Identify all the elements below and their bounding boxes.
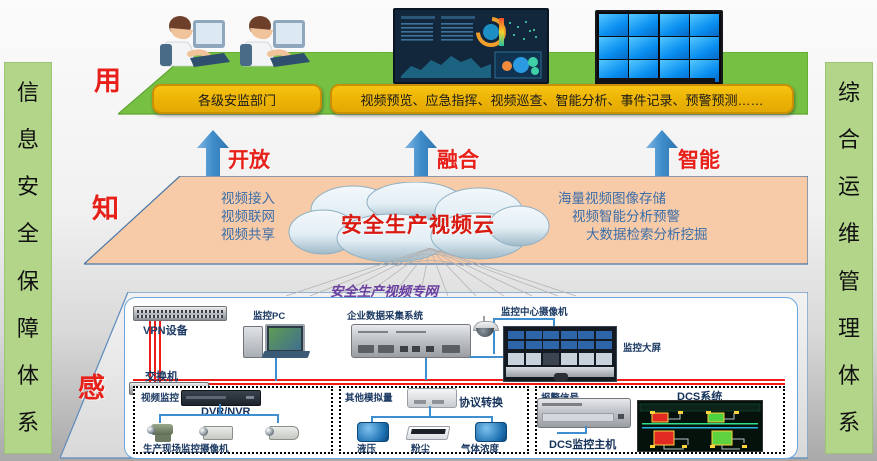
architecture-diagram: 用 知 感: [0, 0, 877, 461]
dust-sensor-icon: [406, 426, 451, 440]
app-box-safety-departments[interactable]: 各级安监部门: [152, 84, 322, 114]
dcs-screen-icon: [637, 400, 763, 452]
red-bus-line-2: [133, 383, 785, 385]
layer-tag-application: 用: [94, 68, 121, 95]
sidebar-left-char-0: 信: [17, 82, 39, 104]
cloud-left-line-3: 视频共享: [150, 226, 275, 244]
blue-wire-collector: [425, 358, 427, 380]
sidebar-left-char-1: 息: [17, 129, 39, 151]
sidebar-left-char-3: 全: [17, 223, 39, 245]
data-collector-label: 企业数据采集系统: [347, 308, 423, 322]
sensor-label-gas: 气体浓度: [461, 441, 499, 455]
sidebar-right-char-5: 理: [838, 318, 860, 340]
pressure-sensor-icon: [357, 422, 389, 442]
ptz-camera-icon: [147, 422, 177, 442]
box-camera-icon: [199, 424, 233, 440]
cloud-label: 安全生产视频云: [283, 209, 553, 239]
sidebar-right-char-0: 综: [838, 82, 860, 104]
site-camera-label: 生产现场监控摄像机: [143, 441, 229, 455]
g1-wire-r: [277, 414, 279, 423]
dcs-host-icon: [537, 398, 631, 428]
dvr-nvr-icon: [181, 390, 261, 406]
red-bus-line-1: [133, 379, 785, 381]
g2-wire-h: [371, 416, 493, 418]
cloud-left-line-1: 视频接入: [150, 190, 275, 208]
sidebar-right-char-3: 维: [838, 223, 860, 245]
big-screen-label: 监控大屏: [623, 340, 661, 354]
cloud-right-capabilities: 海量视频图像存储 视频智能分析预警 大数据检索分析挖掘: [558, 190, 758, 245]
app-box-functions[interactable]: 视频预览、应急指挥、视频巡查、智能分析、事件记录、预警预测……: [330, 84, 794, 114]
sidebar-left-char-5: 障: [17, 318, 39, 340]
protocol-converter-icon: [407, 388, 457, 408]
g3-wire-h: [557, 432, 587, 434]
protocol-converter-label: 协议转换: [459, 394, 503, 410]
switch-device-label: 交换机: [145, 368, 178, 384]
arrow-fusion-icon: [404, 130, 438, 176]
gas-sensor-icon: [475, 422, 507, 442]
sidebar-right-char-4: 管: [838, 271, 860, 293]
group-video-surveillance-title: 视频监控: [141, 390, 179, 404]
sensor-label-hydraulic: 液压: [357, 441, 376, 455]
bi-dashboard-screen-icon: [393, 8, 549, 84]
monitor-pc-label: 监控PC: [253, 308, 285, 322]
sidebar-information-security: 信 息 安 全 保 障 体 系: [4, 62, 52, 454]
cloud-right-line-2: 视频智能分析预警: [558, 208, 758, 226]
arrow-intelligent-label: 智能: [678, 150, 720, 171]
center-camera-label: 监控中心摄像机: [501, 304, 568, 318]
sidebar-left-char-4: 保: [17, 271, 39, 293]
cloud-left-capabilities: 视频接入 视频联网 视频共享: [150, 190, 275, 245]
vpn-device-icon: [133, 306, 227, 321]
operator-workstation-1-icon: [160, 12, 230, 72]
video-wall-icon: [595, 10, 723, 86]
sidebar-right-char-1: 合: [838, 129, 860, 151]
group-analog-title: 其他模拟量: [345, 390, 393, 404]
dvr-nvr-label: DVR/NVR: [201, 406, 251, 418]
dome-camera-icon: [471, 316, 499, 340]
sidebar-integrated-ops: 综 合 运 维 管 理 体 系: [825, 62, 873, 454]
cloud-right-line-1: 海量视频图像存储: [558, 190, 758, 208]
arrow-open-label: 开放: [228, 150, 270, 171]
dcs-host-label: DCS监控主机: [549, 436, 616, 452]
g1-wire-h: [159, 414, 279, 416]
g1-wire-v: [219, 404, 221, 414]
g2-wire-v: [429, 406, 431, 416]
sensor-label-dust: 粉尘: [411, 441, 430, 455]
infrastructure-panel: VPN设备 交换机 监控PC 企业数据采集系统 监控中心摄像机: [124, 297, 798, 459]
arrow-open-icon: [196, 130, 230, 176]
arrow-intelligent-icon: [645, 130, 679, 176]
industrial-server-icon: [351, 324, 471, 358]
app-box-safety-departments-label: 各级安监部门: [198, 90, 276, 109]
sidebar-left-char-6: 体: [17, 365, 39, 387]
cloud-left-line-2: 视频联网: [150, 208, 275, 226]
layer-tag-cognition: 知: [92, 196, 119, 223]
control-room-icon: [503, 326, 617, 382]
arrow-fusion-label: 融合: [437, 150, 479, 171]
app-box-functions-label: 视频预览、应急指挥、视频巡查、智能分析、事件记录、预警预测……: [360, 90, 763, 109]
sidebar-left-char-2: 安: [17, 176, 39, 198]
sidebar-right-char-2: 运: [838, 176, 860, 198]
vpn-device-label: VPN设备: [143, 322, 188, 338]
blue-wire-dome-h: [495, 318, 555, 320]
desktop-pc-icon: [243, 322, 317, 358]
sidebar-left-char-7: 系: [17, 412, 39, 434]
blue-wire-pc: [275, 356, 277, 381]
layer-tag-perception: 感: [78, 375, 105, 402]
bullet-camera-icon: [265, 424, 299, 440]
operator-workstation-2-icon: [240, 12, 310, 72]
sidebar-right-char-7: 系: [838, 412, 860, 434]
sidebar-right-char-6: 体: [838, 365, 860, 387]
cloud-right-line-3: 大数据检索分析挖掘: [558, 226, 758, 244]
